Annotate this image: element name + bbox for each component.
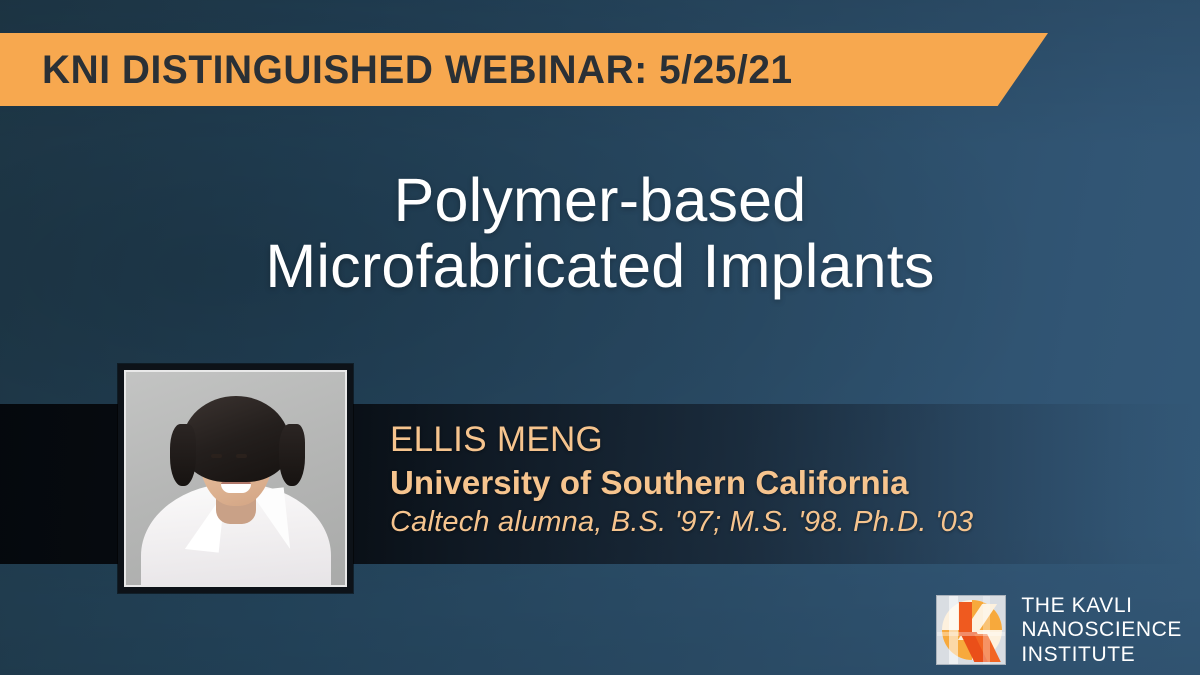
kavli-vertical-stripe-2	[983, 596, 990, 665]
speaker-details: ELLIS MENG University of Southern Califo…	[390, 420, 973, 541]
kavli-vertical-stripe-1	[949, 596, 958, 665]
speaker-credentials: Caltech alumna, B.S. '97; M.S. '98. Ph.D…	[390, 505, 973, 540]
portrait-hair-left	[170, 424, 196, 486]
ribbon-title-text: KNI DISTINGUISHED WEBINAR: 5/25/21	[42, 50, 793, 90]
kavli-horizontal-stripe	[937, 632, 1006, 636]
speaker-affiliation: University of Southern California	[390, 463, 973, 503]
portrait-hair-right	[279, 424, 305, 486]
title-line-1: Polymer-based	[0, 168, 1200, 234]
kavli-text-line-2: NANOSCIENCE	[1021, 618, 1182, 642]
portrait-eye-left	[211, 454, 222, 458]
webinar-slide: KNI DISTINGUISHED WEBINAR: 5/25/21 Polym…	[0, 0, 1200, 675]
portrait-hair	[182, 396, 290, 482]
webinar-ribbon-banner: KNI DISTINGUISHED WEBINAR: 5/25/21	[0, 33, 1048, 106]
speaker-name: ELLIS MENG	[390, 420, 973, 461]
page-title: Polymer-based Microfabricated Implants	[0, 168, 1200, 300]
kavli-text-line-1: THE KAVLI	[1021, 594, 1182, 618]
speaker-photo-frame	[118, 364, 353, 593]
kavli-logo-text: THE KAVLI NANOSCIENCE INSTITUTE	[1021, 594, 1182, 667]
title-line-2: Microfabricated Implants	[0, 234, 1200, 300]
portrait-smile	[221, 482, 251, 493]
kavli-text-line-3: INSTITUTE	[1021, 643, 1182, 667]
portrait-eye-right	[236, 454, 247, 458]
kavli-k-mark-icon	[936, 595, 1006, 665]
kavli-logo: THE KAVLI NANOSCIENCE INSTITUTE	[936, 594, 1182, 667]
speaker-photo	[124, 370, 347, 587]
portrait-illustration	[126, 372, 345, 585]
